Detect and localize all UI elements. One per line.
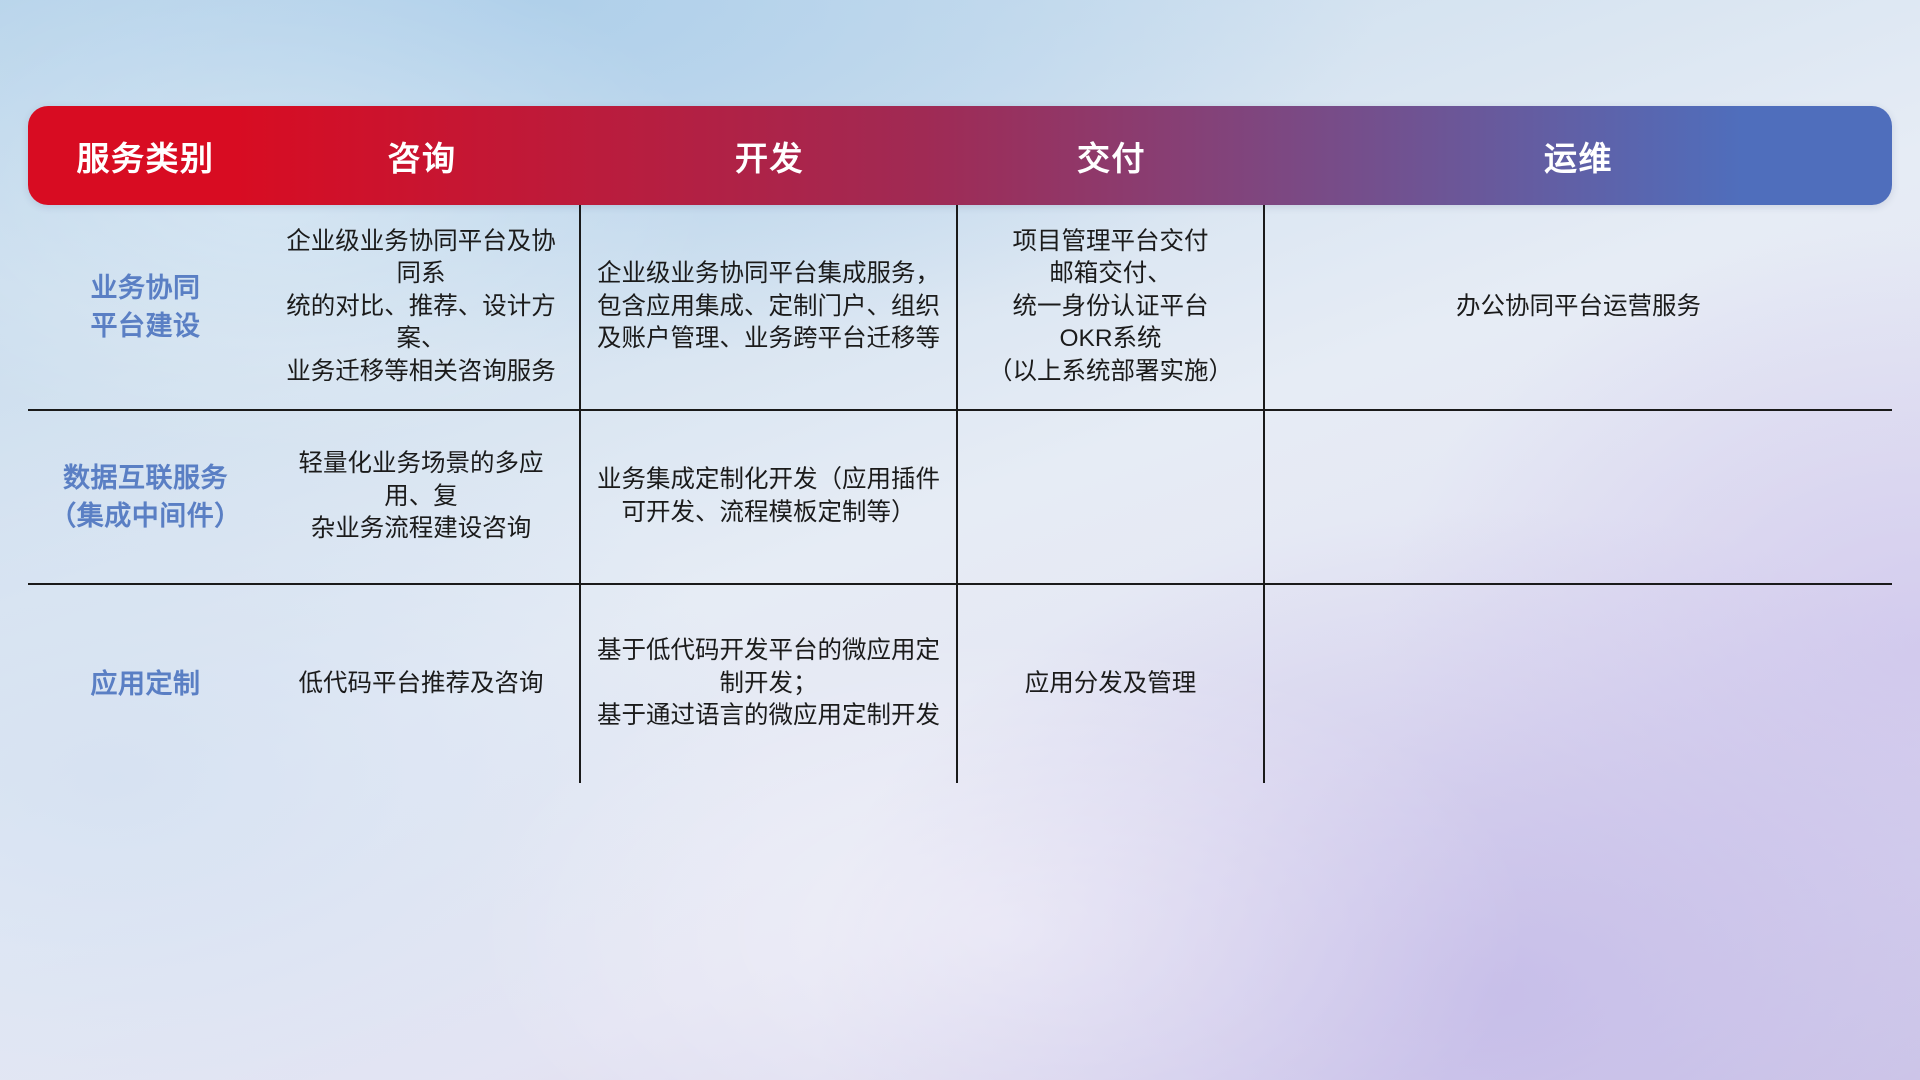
cell-development: 基于低代码开发平台的微应用定 制开发； 基于通过语言的微应用定制开发 [581,585,958,783]
row-category-label: 应用定制 [28,585,263,783]
table-header-row: 服务类别 咨询 开发 交付 运维 [28,106,1892,205]
table-row: 数据互联服务 （集成中间件） 轻量化业务场景的多应用、复 杂业务流程建设咨询 业… [28,411,1892,585]
cell-delivery: 应用分发及管理 [958,585,1265,783]
row-category-label: 数据互联服务 （集成中间件） [28,411,263,583]
header-cell-consulting: 咨询 [263,106,581,205]
header-label-development: 开发 [735,132,804,180]
cell-operations [1265,411,1892,583]
table-body: 业务协同 平台建设 企业级业务协同平台及协同系 统的对比、推荐、设计方案、 业务… [28,205,1892,783]
service-comparison-table: 服务类别 咨询 开发 交付 运维 业务协同 平台建设 企业级业务协同平台及协同系… [28,106,1892,783]
cell-operations [1265,585,1892,783]
cell-development: 业务集成定制化开发（应用插件 可开发、流程模板定制等） [581,411,958,583]
cell-development: 企业级业务协同平台集成服务， 包含应用集成、定制门户、组织 及账户管理、业务跨平… [581,205,958,409]
cell-consulting: 企业级业务协同平台及协同系 统的对比、推荐、设计方案、 业务迁移等相关咨询服务 [263,205,581,409]
header-label-operations: 运维 [1544,132,1613,180]
header-label-category: 服务类别 [77,132,215,180]
cell-consulting: 轻量化业务场景的多应用、复 杂业务流程建设咨询 [263,411,581,583]
header-cell-delivery: 交付 [958,106,1265,205]
cell-consulting: 低代码平台推荐及咨询 [263,585,581,783]
header-cell-development: 开发 [581,106,958,205]
cell-operations: 办公协同平台运营服务 [1265,205,1892,409]
header-cell-operations: 运维 [1265,106,1892,205]
header-label-delivery: 交付 [1077,132,1146,180]
table-row: 应用定制 低代码平台推荐及咨询 基于低代码开发平台的微应用定 制开发； 基于通过… [28,585,1892,783]
header-cell-category: 服务类别 [28,106,263,205]
row-category-label: 业务协同 平台建设 [28,205,263,409]
cell-delivery [958,411,1265,583]
header-label-consulting: 咨询 [388,132,457,180]
cell-delivery: 项目管理平台交付 邮箱交付、 统一身份认证平台 OKR系统 （以上系统部署实施） [958,205,1265,409]
table-row: 业务协同 平台建设 企业级业务协同平台及协同系 统的对比、推荐、设计方案、 业务… [28,205,1892,411]
